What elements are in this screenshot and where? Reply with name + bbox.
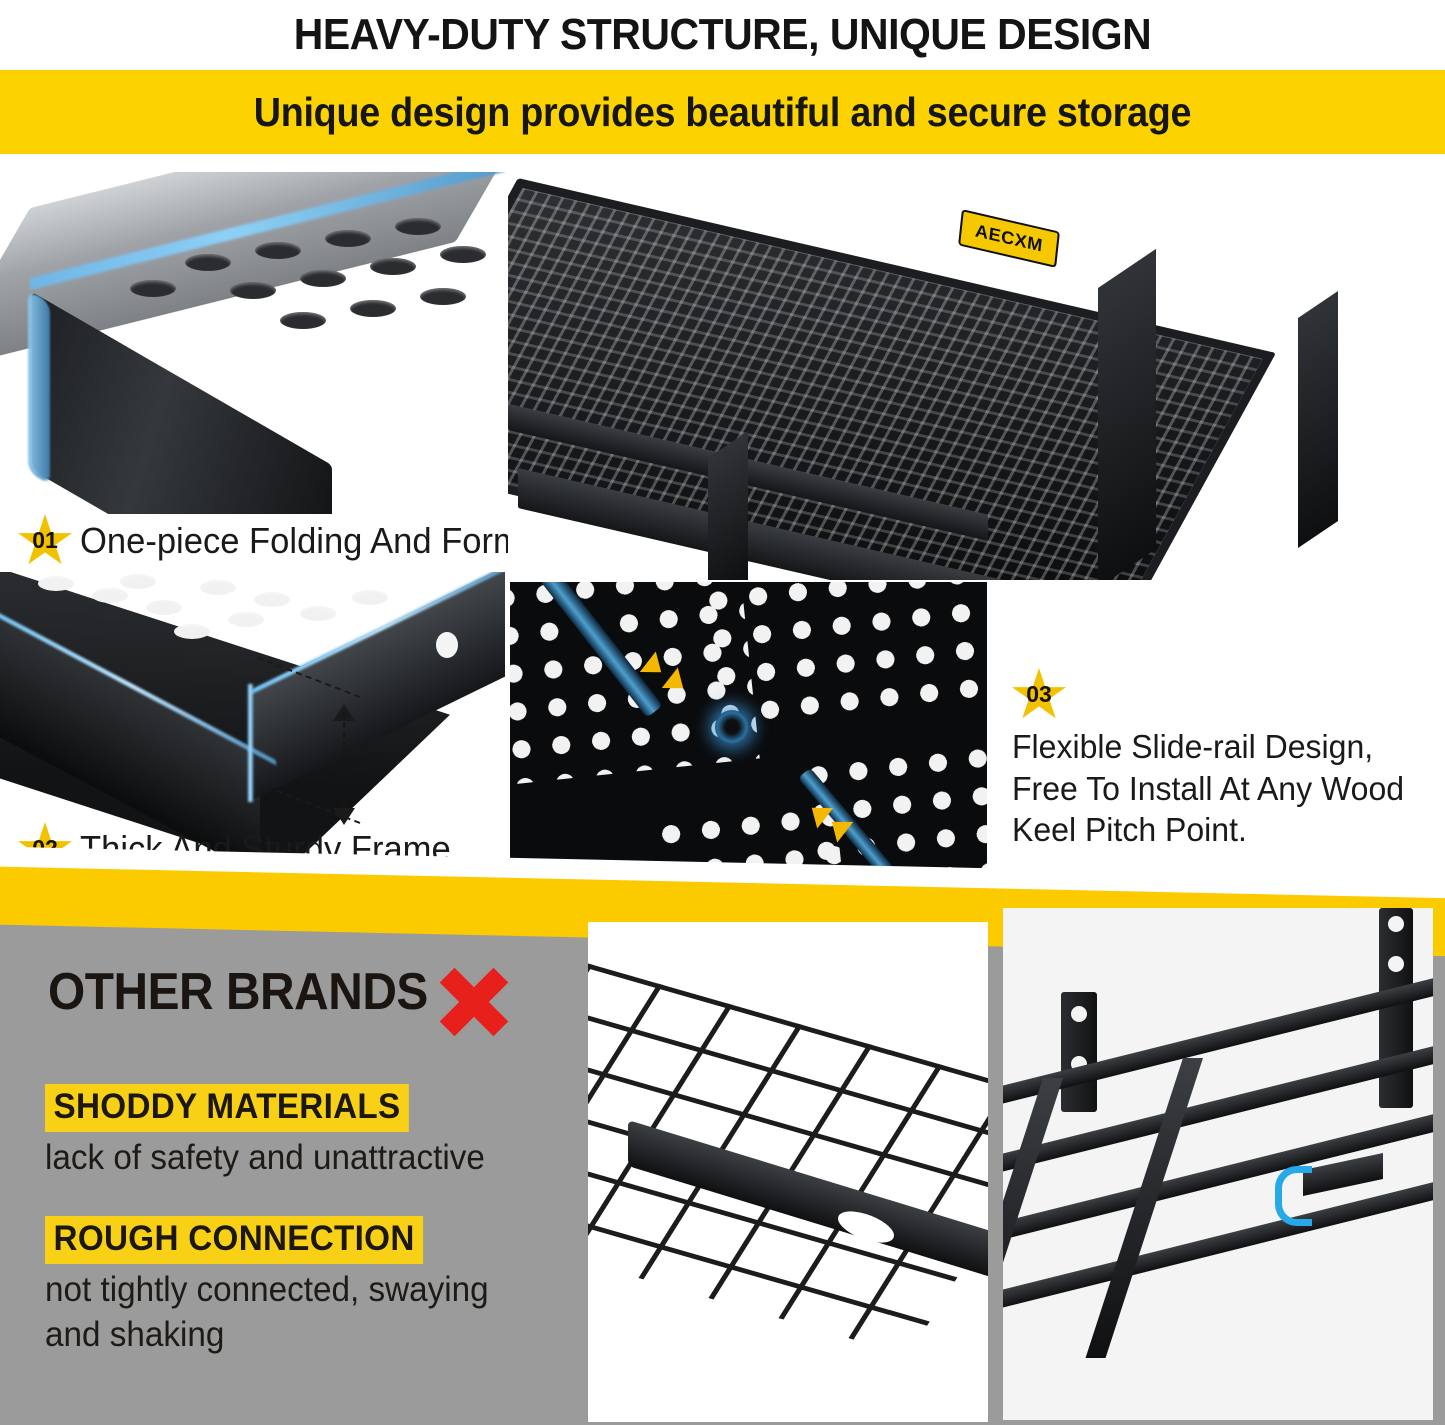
comparison-body-2: not tightly connected, swaying and shaki… [45, 1268, 549, 1358]
photo-main-rack: AECXM [508, 168, 1445, 580]
brand-label: AECXM [958, 209, 1060, 268]
comparison-heading-1: SHODDY MATERIALS [45, 1084, 409, 1132]
rack-bar [1003, 1180, 1433, 1310]
rack-bracket-far-right [1298, 291, 1338, 548]
dimension-callout: 1" [300, 690, 420, 840]
photo-slide-rail-detail [508, 580, 989, 881]
page-title: HEAVY-DUTY STRUCTURE, UNIQUE DESIGN [51, 2, 1395, 68]
photo-other-brand-bar-rack [1003, 908, 1433, 1420]
comparison-body-1: lack of safety and unattractive [45, 1136, 539, 1181]
feature-callout-03: 03 Flexible Slide-rail Design, Free To I… [1012, 668, 1432, 851]
red-x-icon [430, 958, 518, 1046]
feature-label: Flexible Slide-rail Design, Free To Inst… [1012, 726, 1419, 851]
rail-perf-upper-right [703, 580, 989, 737]
feature-label: One-piece Folding And Forming [80, 520, 568, 562]
dimension-value: 1" [336, 750, 364, 781]
photo-other-brand-wire-rack [588, 922, 988, 1422]
rail-bolt [715, 710, 749, 744]
star-badge-icon: 03 [1012, 668, 1066, 722]
star-badge-icon: 01 [18, 514, 72, 568]
loose-connection-highlight-icon [1275, 1166, 1312, 1226]
other-brand-bracket-left [1061, 992, 1097, 1112]
product-infographic: HEAVY-DUTY STRUCTURE, UNIQUE DESIGN Uniq… [0, 0, 1445, 1425]
rack-bracket-right [1098, 249, 1156, 580]
feature-number: 01 [18, 527, 72, 554]
comparison-heading-2: ROUGH CONNECTION [45, 1216, 423, 1264]
rack-bracket-left [708, 431, 748, 580]
feature-number: 03 [1012, 681, 1066, 708]
page-subtitle: Unique design provides beautiful and sec… [58, 70, 1387, 154]
photo-one-piece-channel [0, 172, 505, 514]
comparison-title: OTHER BRANDS [48, 962, 428, 1022]
channel-perforations [0, 172, 505, 514]
feature-callout-01: 01 One-piece Folding And Forming [18, 514, 588, 568]
